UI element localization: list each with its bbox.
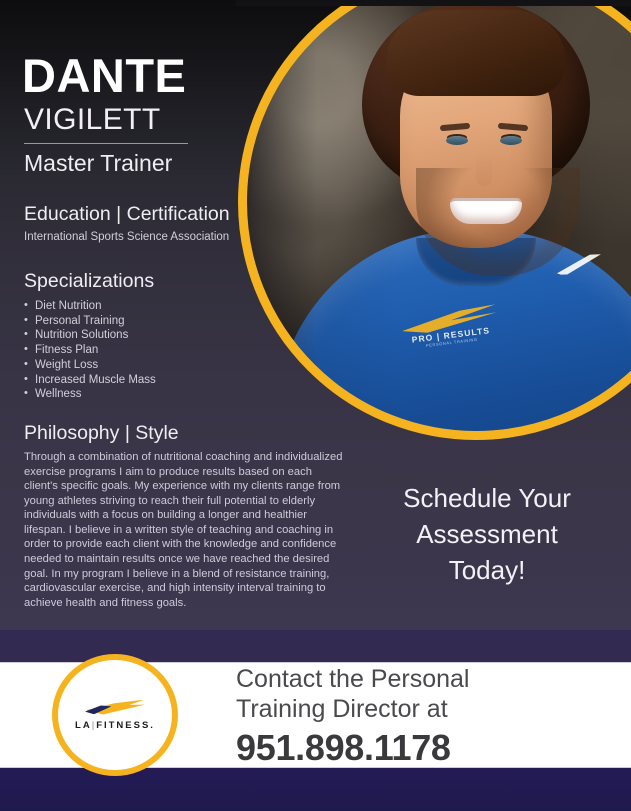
specializations-list: Diet Nutrition Personal Training Nutriti… (22, 299, 344, 402)
list-item: Personal Training (24, 314, 344, 329)
list-item: Increased Muscle Mass (24, 373, 344, 388)
specializations-heading: Specializations (24, 270, 344, 293)
contact-line-2: Training Director at (236, 694, 616, 724)
left-info-column: DANTE VIGILETT Master Trainer Education … (22, 52, 344, 610)
list-item: Nutrition Solutions (24, 328, 344, 343)
call-to-action: Schedule Your Assessment Today! (356, 480, 618, 588)
la-fitness-wordmark: LA|FITNESS. (75, 720, 155, 731)
contact-line-1: Contact the Personal (236, 664, 616, 694)
philosophy-body: Through a combination of nutritional coa… (24, 450, 344, 611)
logo-name-left: LA (75, 720, 92, 731)
ring-top-mask (236, 0, 631, 6)
education-heading: Education | Certification (24, 203, 344, 226)
la-fitness-swoosh-icon (85, 700, 145, 715)
education-value: International Sports Science Association (24, 231, 344, 243)
logo-name-right: FITNESS. (96, 720, 155, 731)
la-fitness-logo: LA|FITNESS. (52, 654, 178, 776)
contact-block: Contact the Personal Training Director a… (236, 664, 616, 770)
trainer-last-name: VIGILETT (24, 103, 344, 136)
trainer-role: Master Trainer (24, 150, 344, 177)
trainer-first-name: DANTE (22, 52, 344, 99)
list-item: Fitness Plan (24, 343, 344, 358)
cta-line-1: Schedule Your (356, 480, 618, 516)
trainer-profile-poster: PRO | RESULTS PERSONAL TRAINING (0, 0, 631, 811)
cta-line-3: Today! (356, 552, 618, 588)
list-item: Wellness (24, 387, 344, 402)
philosophy-heading: Philosophy | Style (24, 422, 344, 445)
footer-bottom-band (0, 768, 631, 811)
phone-number[interactable]: 951.898.1178 (236, 726, 616, 770)
list-item: Diet Nutrition (24, 299, 344, 314)
cta-line-2: Assessment (356, 516, 618, 552)
name-divider (24, 143, 188, 144)
list-item: Weight Loss (24, 358, 344, 373)
